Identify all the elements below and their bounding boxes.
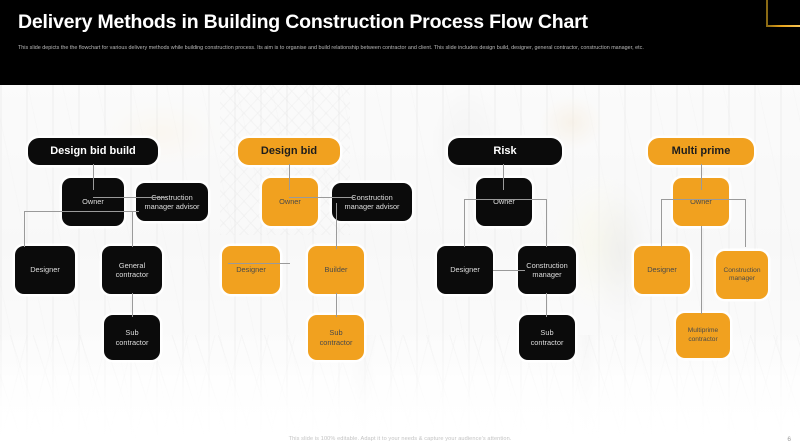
corner-bracket-icon	[756, 0, 800, 32]
diagram-canvas: Design bid build Owner Construction mana…	[0, 85, 800, 448]
node-label: General contractor	[106, 261, 158, 279]
node-design-bid-builder[interactable]: Builder	[308, 246, 364, 294]
node-label: Owner	[279, 197, 301, 206]
connector	[132, 293, 133, 317]
connector	[24, 211, 139, 212]
node-design-bid-designer[interactable]: Designer	[222, 246, 280, 294]
node-label: Risk	[493, 145, 516, 158]
node-multi-prime-designer[interactable]: Designer	[634, 246, 690, 294]
connector	[228, 263, 290, 264]
node-label: Construction manager advisor	[140, 193, 204, 211]
connector	[464, 199, 546, 200]
node-risk-construction-manager[interactable]: Construction manager	[518, 246, 576, 294]
page-subtitle: This slide depicts the the flowchart for…	[18, 44, 778, 53]
node-design-bid-build-heading[interactable]: Design bid build	[28, 138, 158, 165]
connector	[546, 293, 547, 317]
node-design-bid-build-construction-manager-advisor[interactable]: Construction manager advisor	[136, 183, 208, 221]
connector	[336, 293, 337, 317]
node-label: Builder	[324, 265, 347, 274]
connector	[701, 164, 702, 190]
node-label: Designer	[30, 265, 60, 274]
connector	[132, 211, 133, 247]
node-design-bid-build-designer[interactable]: Designer	[15, 246, 75, 294]
node-label: Design bid	[261, 145, 317, 158]
connector	[546, 199, 547, 247]
connector	[289, 164, 290, 190]
page-number: 6	[787, 436, 791, 443]
node-label: Construction manager	[522, 261, 572, 279]
connector	[24, 211, 25, 247]
node-multi-prime-multiprime-contractor[interactable]: Multiprime contractor	[676, 313, 730, 358]
node-design-bid-owner[interactable]: Owner	[262, 178, 318, 226]
node-risk-sub-contractor[interactable]: Sub contractor	[519, 315, 575, 360]
node-label: Sub contractor	[312, 328, 360, 346]
node-label: Design bid build	[50, 145, 136, 158]
node-label: Designer	[647, 265, 677, 274]
connector	[464, 199, 465, 247]
node-label: Sub contractor	[108, 328, 156, 346]
node-risk-designer[interactable]: Designer	[437, 246, 493, 294]
connector	[93, 197, 167, 198]
node-label: Construction manager advisor	[336, 193, 408, 211]
page-title: Delivery Methods in Building Constructio…	[18, 11, 588, 34]
connector	[661, 199, 745, 200]
node-multi-prime-construction-manager[interactable]: Construction manager	[716, 251, 768, 299]
connector	[661, 199, 662, 247]
node-design-bid-construction-manager-advisor[interactable]: Construction manager advisor	[332, 183, 412, 221]
node-risk-heading[interactable]: Risk	[448, 138, 562, 165]
node-label: Owner	[82, 197, 104, 206]
slide: Delivery Methods in Building Constructio…	[0, 0, 800, 448]
node-design-bid-heading[interactable]: Design bid	[238, 138, 340, 165]
node-design-bid-build-sub-contractor[interactable]: Sub contractor	[104, 315, 160, 360]
node-label: Multi prime	[672, 145, 731, 158]
node-design-bid-build-general-contractor[interactable]: General contractor	[102, 246, 162, 294]
connector	[336, 203, 337, 249]
flow-chart: Design bid build Owner Construction mana…	[0, 85, 800, 448]
node-label: Sub contractor	[523, 328, 571, 346]
connector	[701, 226, 702, 314]
slide-header: Delivery Methods in Building Constructio…	[0, 0, 800, 85]
connector	[289, 197, 355, 198]
node-multi-prime-heading[interactable]: Multi prime	[648, 138, 754, 165]
node-label: Multiprime contractor	[680, 327, 726, 343]
node-label: Designer	[236, 265, 266, 274]
connector	[745, 199, 746, 247]
node-label: Construction manager	[720, 267, 764, 283]
node-label: Designer	[450, 265, 480, 274]
slide-footer: This slide is 100% editable. Adapt it to…	[0, 426, 800, 448]
footer-note: This slide is 100% editable. Adapt it to…	[0, 436, 800, 442]
node-risk-owner[interactable]: Owner	[476, 178, 532, 226]
node-design-bid-sub-contractor[interactable]: Sub contractor	[308, 315, 364, 360]
connector	[93, 164, 94, 190]
connector	[493, 270, 525, 271]
connector	[503, 164, 504, 190]
